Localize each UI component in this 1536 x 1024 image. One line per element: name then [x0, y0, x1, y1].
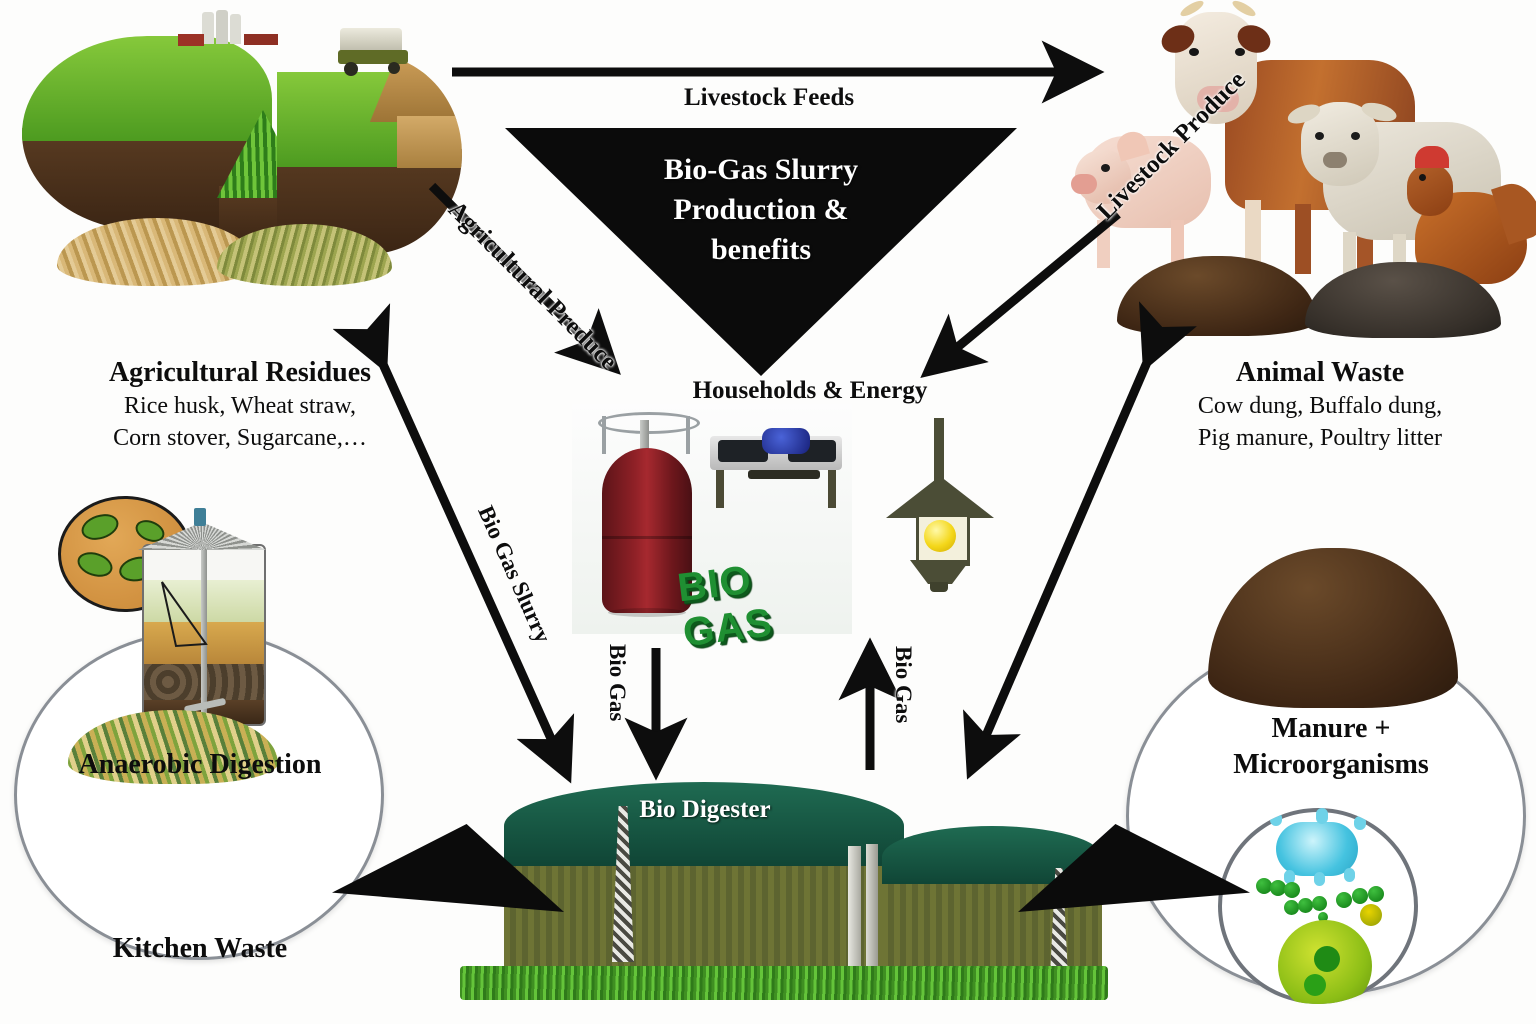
microorganisms-inset-circle — [1218, 808, 1418, 1004]
bio-gas-badge: BIO GAS — [675, 546, 857, 656]
title-line-1: Bio-Gas Slurry — [505, 150, 1017, 190]
agricultural-residues-detail-2: Corn stover, Sugarcane,… — [50, 424, 430, 453]
agricultural-field-image — [22, 6, 452, 276]
arrow-label-bio-gas-slurry: Bio Gas Slurry — [472, 502, 556, 647]
agricultural-residues-detail-1: Rice husk, Wheat straw, — [50, 392, 430, 421]
arrow-label-bio-gas-down: Bio Gas — [604, 644, 630, 721]
digester-jar-illustration — [58, 496, 278, 746]
manure-microorganisms-line-2: Microorganisms — [1146, 748, 1516, 782]
anaerobic-digestion-heading: Anaerobic Digestion — [40, 748, 360, 782]
animal-waste-detail-2: Pig manure, Poultry litter — [1130, 424, 1510, 453]
title-line-3: benefits — [505, 230, 1017, 270]
animal-waste-heading: Animal Waste — [1140, 356, 1500, 390]
bio-digester-heading: Bio Digester — [560, 795, 850, 826]
title-line-2: Production & — [505, 190, 1017, 230]
lamp-image — [880, 418, 1000, 618]
animal-waste-detail-1: Cow dung, Buffalo dung, — [1130, 392, 1510, 421]
manure-mound-image — [1208, 548, 1458, 708]
arrow-label-livestock-feeds: Livestock Feeds — [684, 84, 854, 112]
agricultural-residues-heading: Agricultural Residues — [60, 356, 420, 390]
kitchen-waste-caption: Kitchen Waste — [40, 932, 360, 966]
title-block: Bio-Gas Slurry Production & benefits — [505, 150, 1017, 270]
magnifier-pointer-icon — [58, 496, 278, 746]
households-energy-heading: Households & Energy — [640, 376, 980, 407]
infographic-canvas: Agricultural Residues Rice husk, Wheat s… — [0, 0, 1536, 1024]
manure-microorganisms-line-1: Manure + — [1166, 712, 1496, 746]
household-energy-image: BIO GAS — [572, 404, 852, 634]
arrow-label-bio-gas-up: Bio Gas — [890, 646, 916, 723]
